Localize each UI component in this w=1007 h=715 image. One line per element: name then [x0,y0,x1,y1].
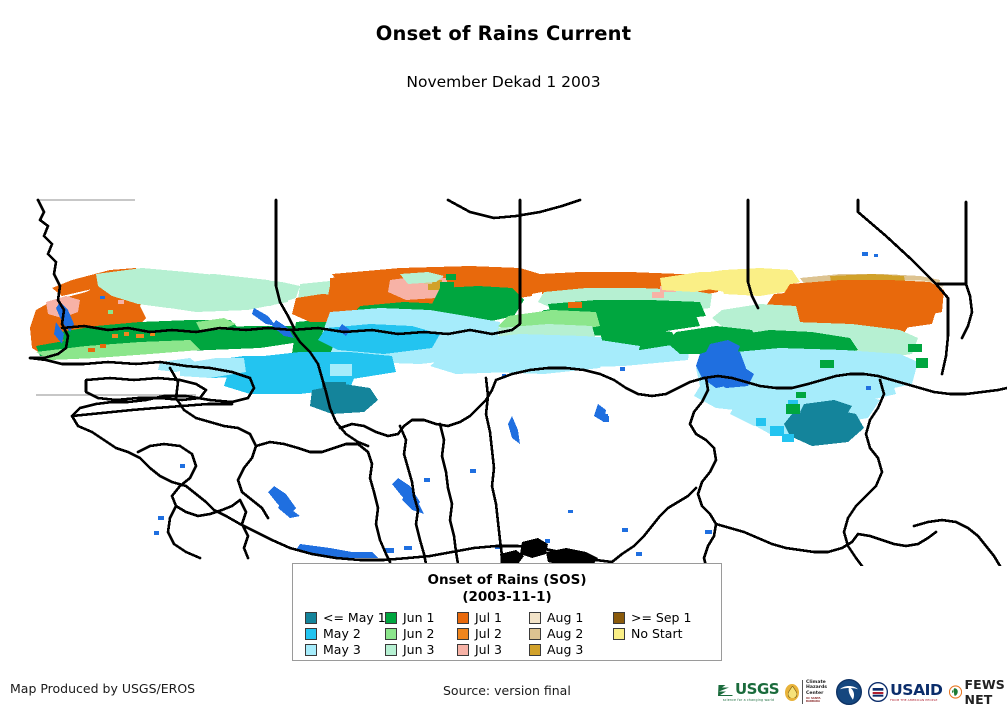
map-legend: Onset of Rains (SOS) (2003-11-1) <= May … [292,563,722,661]
legend-column-sep: >= Sep 1 No Start [613,610,709,657]
chc-logo: Climate Hazards Center UC SANTA BARBARA [785,676,830,708]
legend-swatch-no-start [613,628,625,640]
legend-item-may-3[interactable]: May 3 [305,642,385,657]
chc-text-block: Climate Hazards Center UC SANTA BARBARA [802,680,830,703]
legend-item-may-1[interactable]: <= May 1 [305,610,385,625]
legend-swatch-jun-2 [385,628,397,640]
legend-swatch-jun-1 [385,612,397,624]
legend-swatch-jul-1 [457,612,469,624]
chc-drop-icon [785,684,799,701]
legend-label-may-1: <= May 1 [323,611,386,624]
legend-swatch-jul-3 [457,644,469,656]
legend-swatch-aug-3 [529,644,541,656]
legend-swatch-aug-1 [529,612,541,624]
legend-item-sep-1[interactable]: >= Sep 1 [613,610,709,625]
footer-produced-by: Map Produced by USGS/EROS [10,681,195,696]
chc-line-3: Center [806,691,830,696]
legend-label-aug-2: Aug 2 [547,627,583,640]
usaid-logo: USAID FROM THE AMERICAN PEOPLE [868,676,942,708]
legend-column-aug: Aug 1 Aug 2 Aug 3 [529,610,613,657]
legend-swatch-may-2 [305,628,317,640]
legend-label-jul-1: Jul 1 [475,611,502,624]
legend-item-jun-2[interactable]: Jun 2 [385,626,457,641]
legend-label-may-2: May 2 [323,627,361,640]
usgs-tagline: science for a changing world [723,698,774,702]
legend-title: Onset of Rains (SOS) [293,572,721,589]
legend-label-jun-1: Jun 1 [403,611,434,624]
usaid-seal-icon [868,682,888,702]
fews-globe-icon [949,682,962,702]
legend-label-jul-3: Jul 3 [475,643,502,656]
legend-swatch-may-3 [305,644,317,656]
legend-swatch-aug-2 [529,628,541,640]
map-canvas[interactable] [0,96,1007,566]
legend-label-may-3: May 3 [323,643,361,656]
legend-item-aug-3[interactable]: Aug 3 [529,642,613,657]
legend-label-jun-3: Jun 3 [403,643,434,656]
usgs-wave-icon [718,683,733,697]
legend-item-may-2[interactable]: May 2 [305,626,385,641]
map-page: Onset of Rains Current November Dekad 1 … [0,0,1007,715]
fews-net-logo: FEWS NET [949,676,1007,708]
noaa-seal-icon [836,679,862,705]
water-drop-icon [788,686,797,698]
usaid-wordmark: USAID [890,683,942,698]
legend-swatch-may-1 [305,612,317,624]
legend-date: (2003-11-1) [293,589,721,606]
usaid-tagline: FROM THE AMERICAN PEOPLE [890,698,942,702]
legend-swatch-jul-2 [457,628,469,640]
legend-item-jun-3[interactable]: Jun 3 [385,642,457,657]
legend-label-sep-1: >= Sep 1 [631,611,691,624]
page-subtitle: November Dekad 1 2003 [0,73,1007,91]
legend-swatch-sep-1 [613,612,625,624]
legend-column-jul: Jul 1 Jul 2 Jul 3 [457,610,529,657]
fews-wordmark: FEWS NET [965,677,1007,707]
legend-item-no-start[interactable]: No Start [613,626,709,641]
legend-label-no-start: No Start [631,627,683,640]
chc-sub: UC SANTA BARBARA [806,697,830,704]
legend-label-aug-3: Aug 3 [547,643,583,656]
legend-column-may: <= May 1 May 2 May 3 [305,610,385,657]
usaid-text-block: USAID FROM THE AMERICAN PEOPLE [890,683,942,702]
footer-logos: USGS science for a changing world Climat… [718,674,1000,710]
legend-item-aug-1[interactable]: Aug 1 [529,610,613,625]
legend-item-jul-2[interactable]: Jul 2 [457,626,529,641]
footer-source: Source: version final [443,683,571,698]
legend-label-jun-2: Jun 2 [403,627,434,640]
legend-label-aug-1: Aug 1 [547,611,583,624]
legend-swatch-jun-3 [385,644,397,656]
legend-item-jul-3[interactable]: Jul 3 [457,642,529,657]
legend-item-jul-1[interactable]: Jul 1 [457,610,529,625]
noaa-logo [836,676,862,708]
legend-item-aug-2[interactable]: Aug 2 [529,626,613,641]
usgs-logo: USGS science for a changing world [718,676,779,708]
page-title: Onset of Rains Current [0,22,1007,45]
usgs-wordmark: USGS [735,682,779,697]
legend-item-jun-1[interactable]: Jun 1 [385,610,457,625]
legend-label-jul-2: Jul 2 [475,627,502,640]
legend-column-jun: Jun 1 Jun 2 Jun 3 [385,610,457,657]
legend-columns: <= May 1 May 2 May 3 Jun 1 Ju [293,606,721,657]
